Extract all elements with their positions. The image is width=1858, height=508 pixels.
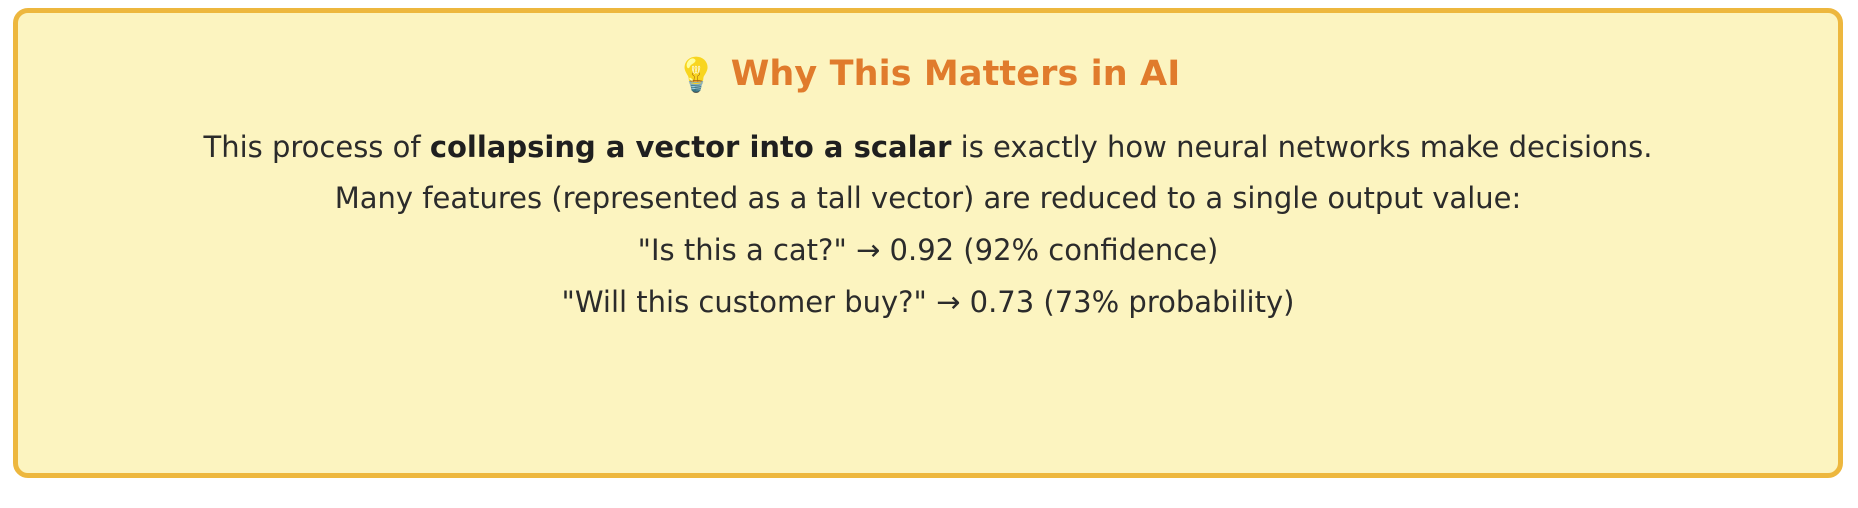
- text-run: is exactly how neural networks make deci…: [951, 130, 1652, 164]
- text-run: "Is this a cat?" → 0.92 (92% confidence): [638, 233, 1219, 267]
- callout-container: 💡 Why This Matters in AI This process of…: [0, 0, 1858, 508]
- callout-header: 💡 Why This Matters in AI: [676, 55, 1181, 94]
- lightbulb-icon: 💡: [676, 58, 717, 91]
- callout-line-3: "Is this a cat?" → 0.92 (92% confidence): [638, 231, 1219, 270]
- callout-line-4: "Will this customer buy?" → 0.73 (73% pr…: [562, 283, 1295, 322]
- text-run: "Will this customer buy?" → 0.73 (73% pr…: [562, 285, 1295, 319]
- callout-body: This process of collapsing a vector into…: [42, 128, 1814, 322]
- text-run: Many features (represented as a tall vec…: [335, 181, 1522, 215]
- text-run: collapsing a vector into a scalar: [430, 130, 952, 164]
- callout-line-2: Many features (represented as a tall vec…: [335, 179, 1522, 218]
- text-run: This process of: [204, 130, 430, 164]
- callout-title: Why This Matters in AI: [731, 55, 1181, 94]
- callout-line-1: This process of collapsing a vector into…: [204, 128, 1653, 167]
- why-this-matters-callout: 💡 Why This Matters in AI This process of…: [13, 8, 1843, 478]
